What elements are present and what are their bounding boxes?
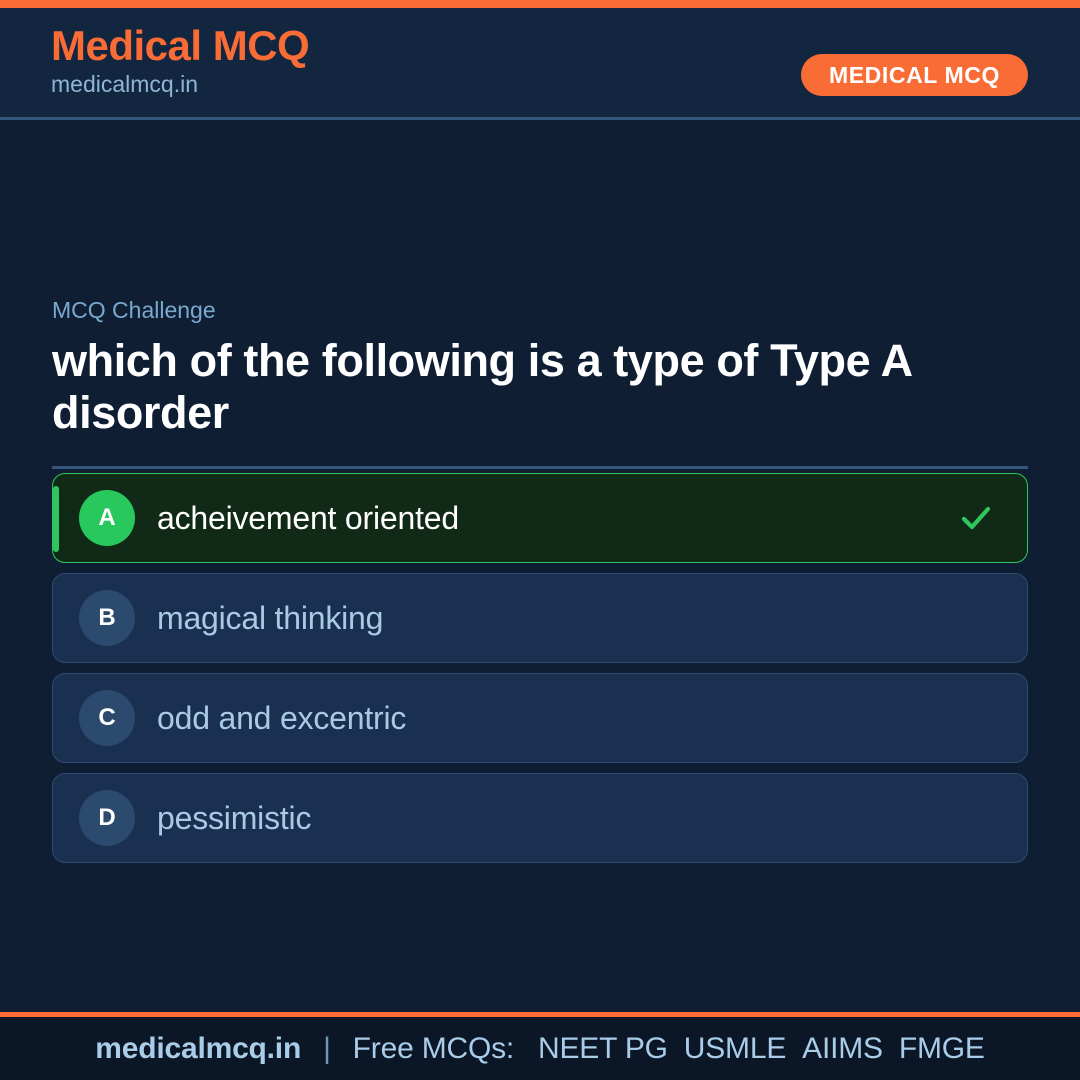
question-text: which of the following is a type of Type…: [52, 335, 1028, 439]
check-icon: [959, 501, 993, 535]
option-text-b: magical thinking: [157, 600, 383, 637]
header-badge-label: MEDICAL MCQ: [829, 62, 1000, 89]
eyebrow-label: MCQ Challenge: [52, 298, 1028, 323]
option-letter-d: D: [79, 790, 135, 846]
top-accent-bar: [0, 0, 1080, 8]
footer-separator: |: [323, 1032, 331, 1066]
brand-domain: medicalmcq.in: [51, 72, 309, 97]
footer-exam-usmle[interactable]: USMLE: [684, 1032, 786, 1066]
option-text-c: odd and excentric: [157, 700, 406, 737]
footer-inner: medicalmcq.in | Free MCQs: NEET PG USMLE…: [95, 1032, 984, 1066]
footer-label: Free MCQs:: [353, 1032, 514, 1066]
option-row-d[interactable]: D pessimistic: [52, 773, 1028, 863]
option-letter-a: A: [79, 490, 135, 546]
brand-title: Medical MCQ: [51, 24, 309, 68]
header-badge[interactable]: MEDICAL MCQ: [801, 54, 1028, 96]
footer-exam-neet-pg[interactable]: NEET PG: [538, 1032, 668, 1066]
page-footer: medicalmcq.in | Free MCQs: NEET PG USMLE…: [0, 1017, 1080, 1080]
question-block: MCQ Challenge which of the following is …: [52, 298, 1028, 469]
footer-exam-fmge[interactable]: FMGE: [899, 1032, 985, 1066]
question-divider: [52, 466, 1028, 469]
footer-exam-aiims[interactable]: AIIMS: [802, 1032, 883, 1066]
option-letter-b: B: [79, 590, 135, 646]
page-header: Medical MCQ medicalmcq.in MEDICAL MCQ: [0, 8, 1080, 120]
option-text-a: acheivement oriented: [157, 500, 459, 537]
footer-site-link[interactable]: medicalmcq.in: [95, 1032, 301, 1066]
options-list: A acheivement oriented B magical thinkin…: [52, 473, 1028, 873]
option-text-d: pessimistic: [157, 800, 311, 837]
main-content: MCQ Challenge which of the following is …: [0, 123, 1080, 1012]
option-row-b[interactable]: B magical thinking: [52, 573, 1028, 663]
option-letter-c: C: [79, 690, 135, 746]
option-row-c[interactable]: C odd and excentric: [52, 673, 1028, 763]
brand-block: Medical MCQ medicalmcq.in: [51, 24, 309, 97]
option-row-a[interactable]: A acheivement oriented: [52, 473, 1028, 563]
